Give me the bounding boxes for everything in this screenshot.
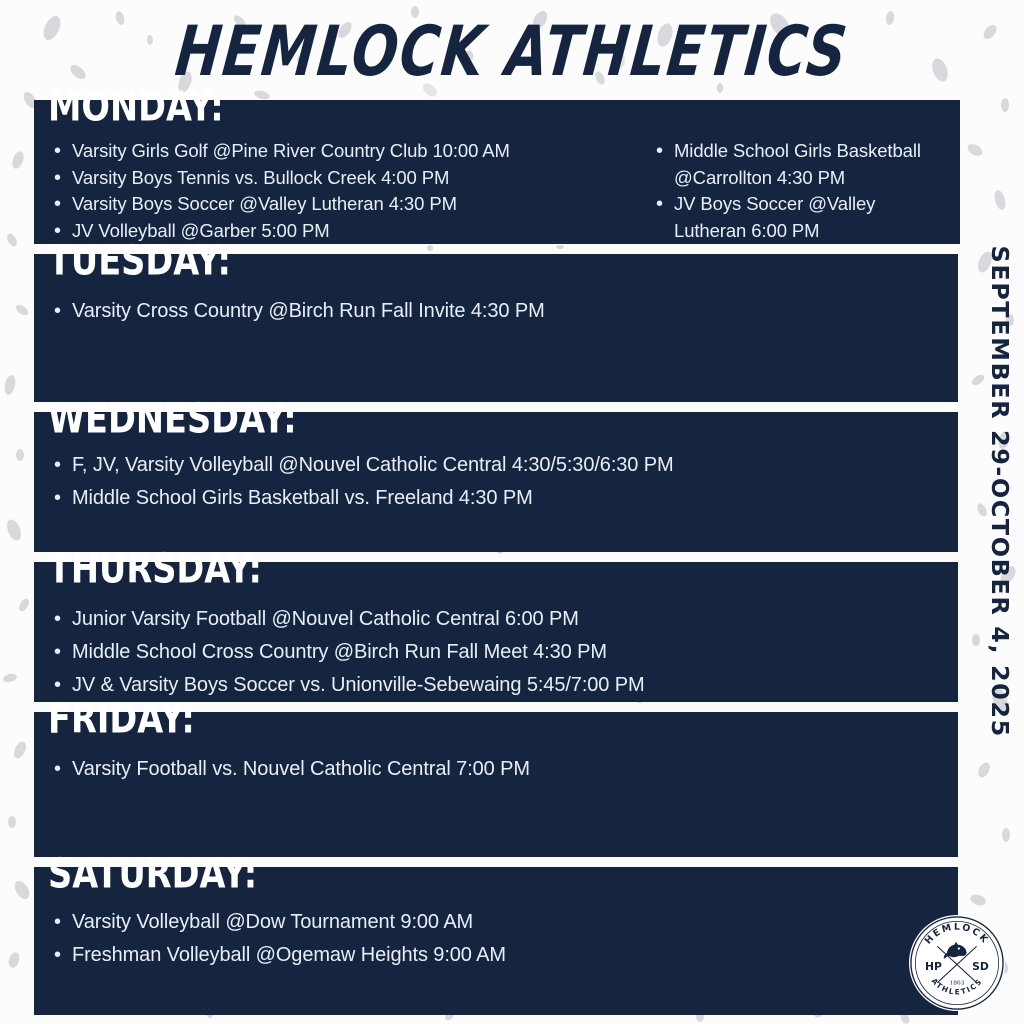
hemlock-athletics-logo: HP SD 1863 HEMLOCK ATHLETICS — [908, 914, 1006, 1012]
day-heading-tuesday: TUESDAY: — [48, 242, 231, 283]
list-item: Middle School Girls Basketball vs. Freel… — [46, 485, 946, 512]
list-item: JV & Varsity Boys Soccer vs. Unionville-… — [46, 672, 946, 699]
event-list: Junior Varsity Football @Nouvel Catholic… — [46, 606, 946, 698]
event-list: Varsity Girls Golf @Pine River Country C… — [46, 138, 638, 245]
list-item: Varsity Volleyball @Dow Tournament 9:00 … — [46, 909, 946, 936]
list-item: Junior Varsity Football @Nouvel Catholic… — [46, 606, 946, 633]
day-panel-friday: FRIDAY: Varsity Football vs. Nouvel Cath… — [34, 712, 958, 857]
event-list: Varsity Volleyball @Dow Tournament 9:00 … — [46, 909, 946, 969]
event-list: Middle School Girls Basketball @Carrollt… — [648, 138, 948, 245]
list-item: Varsity Boys Soccer @Valley Lutheran 4:3… — [46, 191, 638, 218]
logo-initials-left: HP — [925, 960, 942, 973]
day-panel-thursday: THURSDAY: Junior Varsity Football @Nouve… — [34, 562, 958, 702]
logo-initials-right: SD — [972, 960, 989, 973]
list-item: Varsity Boys Tennis vs. Bullock Creek 4:… — [46, 165, 638, 192]
day-panel-saturday: SATURDAY: Varsity Volleyball @Dow Tourna… — [34, 867, 958, 1015]
day-heading-thursday: THURSDAY: — [48, 550, 262, 591]
list-item: F, JV, Varsity Volleyball @Nouvel Cathol… — [46, 452, 946, 479]
poster-title-wrap: HEMLOCK ATHLETICS — [0, 8, 1024, 96]
monday-column-right: Middle School Girls Basketball @Carrollt… — [648, 138, 948, 245]
list-item: Middle School Cross Country @Birch Run F… — [46, 639, 946, 666]
logo-year: 1863 — [950, 981, 965, 987]
event-list: Varsity Cross Country @Birch Run Fall In… — [46, 298, 946, 325]
monday-column-left: Varsity Girls Golf @Pine River Country C… — [46, 138, 638, 245]
event-list: F, JV, Varsity Volleyball @Nouvel Cathol… — [46, 452, 946, 512]
day-heading-saturday: SATURDAY: — [48, 855, 257, 896]
list-item: JV Boys Soccer @Valley Lutheran 6:00 PM — [648, 191, 948, 244]
day-panel-tuesday: TUESDAY: Varsity Cross Country @Birch Ru… — [34, 254, 958, 402]
poster-canvas: HEMLOCK ATHLETICS SEPTEMBER 29-OCTOBER 4… — [0, 0, 1024, 1024]
schedule-panels: MONDAY: Varsity Girls Golf @Pine River C… — [34, 100, 960, 1024]
list-item: Varsity Football vs. Nouvel Catholic Cen… — [46, 756, 946, 783]
list-item: Freshman Volleyball @Ogemaw Heights 9:00… — [46, 942, 946, 969]
day-heading-monday: MONDAY: — [48, 88, 224, 129]
day-heading-friday: FRIDAY: — [48, 700, 195, 741]
event-list: Varsity Football vs. Nouvel Catholic Cen… — [46, 756, 946, 783]
list-item: Varsity Cross Country @Birch Run Fall In… — [46, 298, 946, 325]
day-panel-wednesday: WEDNESDAY: F, JV, Varsity Volleyball @No… — [34, 412, 958, 552]
date-range-label: SEPTEMBER 29-OCTOBER 4, 2025 — [986, 246, 1012, 738]
day-panel-monday: MONDAY: Varsity Girls Golf @Pine River C… — [34, 100, 960, 244]
list-item: Middle School Girls Basketball @Carrollt… — [648, 138, 948, 191]
date-range-band: SEPTEMBER 29-OCTOBER 4, 2025 — [976, 255, 1022, 775]
day-heading-wednesday: WEDNESDAY: — [48, 400, 297, 441]
page-title: HEMLOCK ATHLETICS — [172, 17, 851, 86]
list-item: Varsity Girls Golf @Pine River Country C… — [46, 138, 638, 165]
